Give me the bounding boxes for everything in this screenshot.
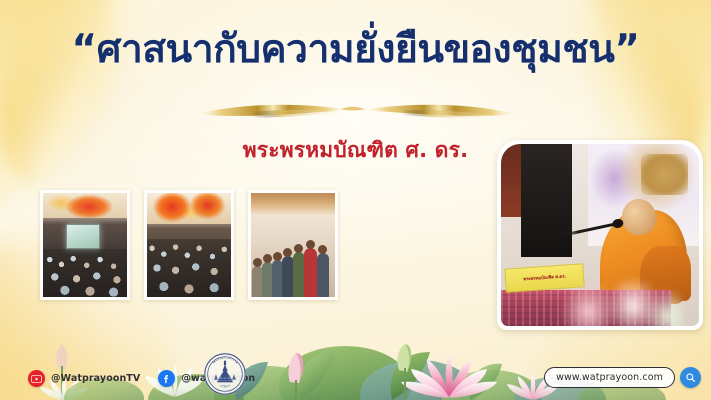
search-icon — [685, 372, 696, 383]
hero-photo[interactable]: พระพรหมบัณฑิต ศ.ดร. — [497, 140, 703, 330]
website-url-text: www.watprayoon.com — [556, 372, 663, 383]
speaker-name: พระพรหมบัณฑิต ศ. ดร. — [243, 134, 469, 167]
website-url-pill[interactable]: www.watprayoon.com — [544, 367, 675, 388]
poster-canvas: “ศาสนากับความยั่งยืนของชุมชน” — [0, 0, 711, 400]
page-title: “ศาสนากับความยั่งยืนของชุมชน” — [71, 26, 639, 75]
crowd-texture — [43, 249, 127, 297]
foreground-flower-blur — [552, 271, 683, 326]
seated-students-image — [251, 193, 335, 297]
photo-thumbnail-strip — [40, 190, 338, 300]
watprayoon-temple-seal: วัดประยุรวงศาวาส วรวิหาร — [203, 352, 247, 396]
footer-bar: @WatprayoonTV @watprayoon — [0, 352, 711, 400]
search-button[interactable] — [680, 367, 701, 388]
photo-thumbnail-1[interactable] — [40, 190, 130, 300]
website-bar: www.watprayoon.com — [544, 367, 701, 388]
crowd-texture — [147, 239, 231, 297]
headline-container: “ศาสนากับความยั่งยืนของชุมชน” — [0, 26, 711, 75]
hall-projector-screen-image — [43, 193, 127, 297]
facebook-icon — [158, 370, 175, 387]
youtube-handle: @WatprayoonTV — [51, 373, 140, 384]
social-link-youtube[interactable]: @WatprayoonTV — [28, 370, 140, 387]
hall-wide-audience-image — [147, 193, 231, 297]
monk-speaking-image: พระพรหมบัณฑิต ศ.ดร. — [501, 144, 699, 326]
photo-thumbnail-2[interactable] — [144, 190, 234, 300]
seated-row-texture — [251, 230, 335, 297]
youtube-icon — [28, 370, 45, 387]
subtitle-container: พระพรหมบัณฑิต ศ. ดร. — [0, 134, 711, 167]
gold-divider-ornament — [191, 98, 521, 124]
photo-thumbnail-3[interactable] — [248, 190, 338, 300]
